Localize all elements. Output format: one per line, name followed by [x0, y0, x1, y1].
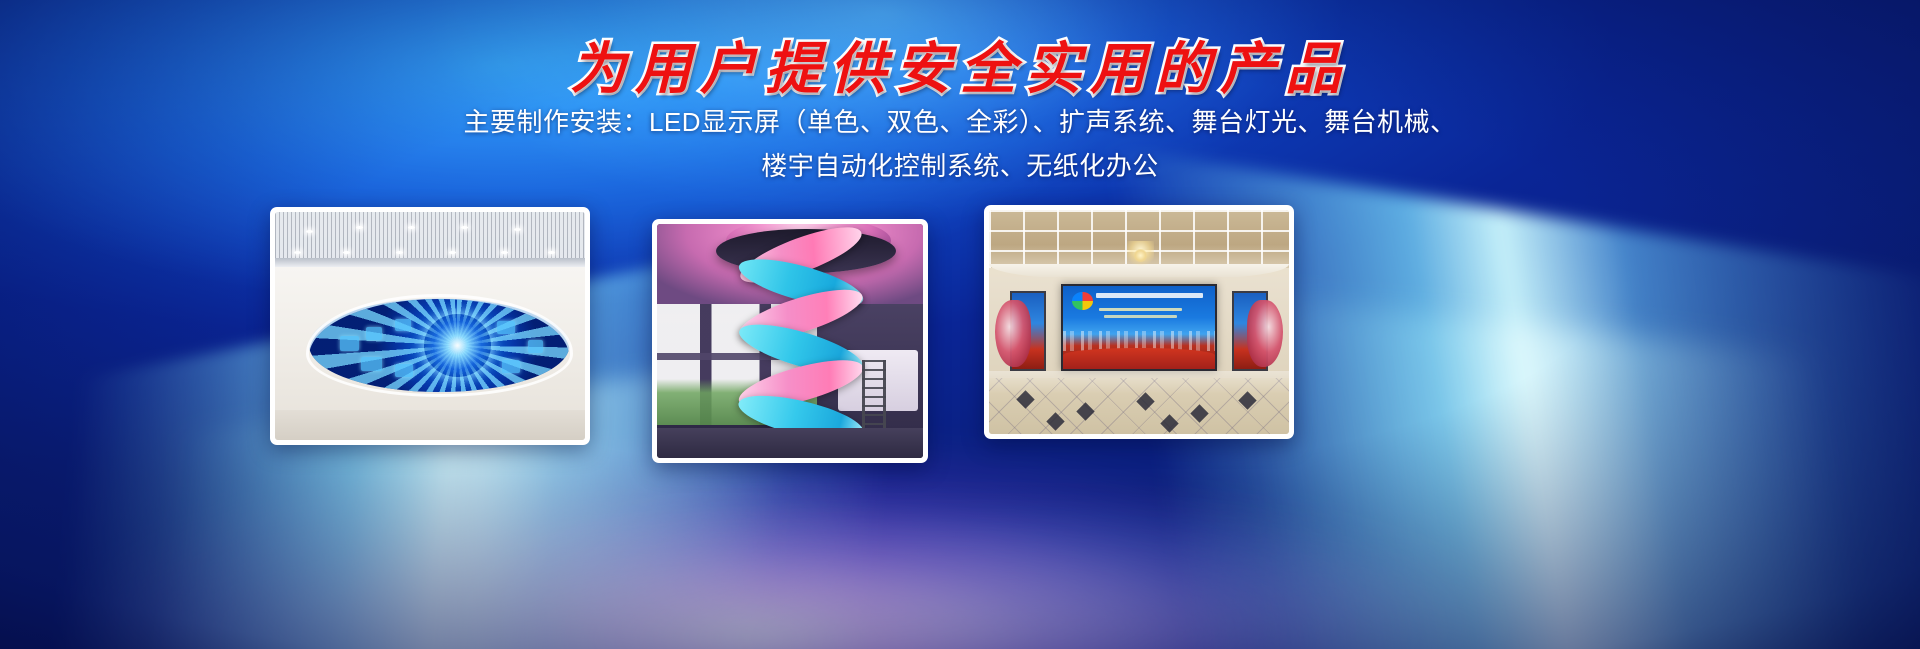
led-block: [528, 340, 544, 353]
photo-gallery: [0, 200, 1920, 480]
subtitle-line-2: 楼宇自动化控制系统、无纸化办公: [0, 144, 1920, 188]
led-block: [395, 364, 413, 377]
led-block: [361, 357, 382, 371]
photo-eye-shaped-led-display: [275, 212, 585, 440]
subtitle-block: 主要制作安装：LED显示屏（单色、双色、全彩）、扩声系统、舞台灯光、舞台机械、 …: [0, 100, 1920, 188]
screen-subtitle-2: [1104, 315, 1177, 318]
screen-red-ribbon: [1063, 348, 1215, 370]
led-block: [502, 360, 520, 373]
photo-card-conference-hall-led[interactable]: [984, 205, 1294, 439]
led-block: [395, 319, 411, 331]
floor-diamond: [1160, 414, 1178, 432]
spiral-led-assembly: [737, 233, 865, 448]
ceiling-spotlight: [514, 228, 521, 231]
ceiling-spotlight: [294, 251, 301, 254]
floor-diamond: [1190, 404, 1208, 422]
floor-diamond: [1238, 391, 1256, 409]
ceiling-spotlight: [356, 226, 363, 229]
ceiling-spotlight: [408, 226, 415, 229]
ceiling-slats: [275, 212, 585, 262]
main-led-screen: [1061, 284, 1217, 371]
light-streak-bottom: [346, 506, 1575, 649]
floor-reflection: [989, 371, 1289, 393]
led-block: [340, 336, 358, 351]
floor-diamond: [1046, 412, 1064, 430]
ceiling-spotlight: [396, 251, 403, 254]
ceiling-spotlight: [343, 251, 350, 254]
led-block: [497, 321, 515, 334]
screen-subtitle-1: [1099, 308, 1181, 311]
hall-floor: [275, 410, 585, 440]
screen-title-text: [1096, 293, 1202, 297]
subtitle-line-1: 主要制作安装：LED显示屏（单色、双色、全彩）、扩声系统、舞台灯光、舞台机械、: [0, 100, 1920, 144]
photo-card-spiral-led-ribbon[interactable]: [652, 219, 928, 463]
ceiling-edge: [275, 258, 585, 267]
headline: 为用户提供安全实用的产品: [0, 24, 1920, 105]
led-block: [366, 327, 382, 340]
photo-card-eye-shaped-led[interactable]: [270, 207, 590, 445]
decorative-drape-left: [995, 300, 1031, 367]
eye-shaped-led-screen: [309, 299, 569, 392]
floor-diamond: [1076, 402, 1094, 420]
chandelier: [1127, 241, 1154, 266]
headline-text: 为用户提供安全实用的产品: [570, 24, 1350, 105]
ceiling-spotlight: [461, 226, 468, 229]
promo-banner: 为用户提供安全实用的产品 主要制作安装：LED显示屏（单色、双色、全彩）、扩声系…: [0, 0, 1920, 649]
photo-spiral-led-ribbon: [657, 224, 923, 458]
photo-conference-hall-led-screen: [989, 210, 1289, 434]
ceiling-spotlight: [449, 251, 456, 254]
ceiling-spotlight: [501, 251, 508, 254]
screen-logo: [1072, 292, 1093, 310]
atrium-floor: [657, 428, 923, 458]
floor-diamond: [1136, 392, 1154, 410]
ceiling-spotlight: [548, 251, 555, 254]
